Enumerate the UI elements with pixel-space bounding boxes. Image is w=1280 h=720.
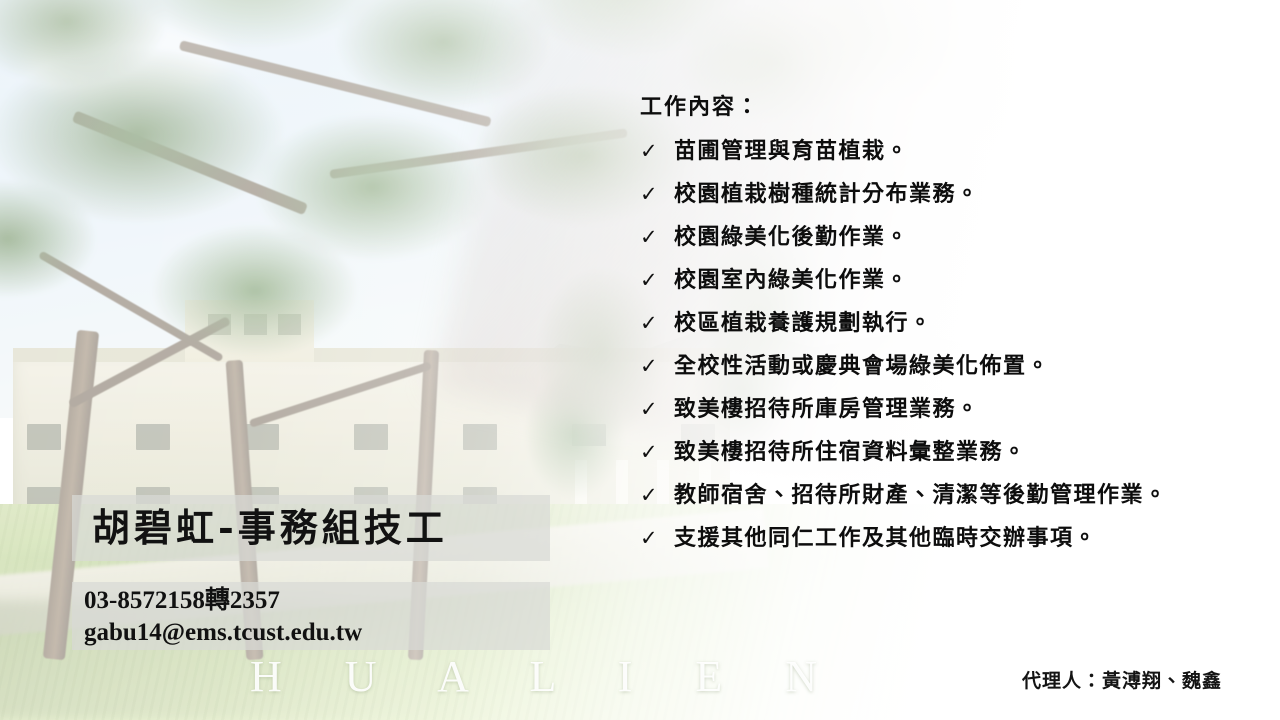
duty-item-label: 校區植栽養護規劃執行。 <box>674 308 933 338</box>
duty-item-label: 苗圃管理與育苗植栽。 <box>674 136 909 166</box>
check-icon: ✓ <box>636 308 674 338</box>
check-icon: ✓ <box>636 523 674 553</box>
check-icon: ✓ <box>636 480 674 510</box>
duty-item-label: 校園室內綠美化作業。 <box>674 265 909 295</box>
slide-canvas: H U A L I E N 胡碧虹-事務組技工 03-8572158轉2357 … <box>0 0 1280 720</box>
duty-item-label: 校園綠美化後勤作業。 <box>674 222 909 252</box>
duty-item-label: 校園植栽樹種統計分布業務。 <box>674 179 980 209</box>
duty-list-item: ✓苗圃管理與育苗植栽。 <box>636 136 1266 166</box>
check-icon: ✓ <box>636 437 674 467</box>
check-icon: ✓ <box>636 179 674 209</box>
duty-list-item: ✓致美樓招待所庫房管理業務。 <box>636 394 1266 424</box>
duty-item-label: 全校性活動或慶典會場綠美化佈置。 <box>674 351 1050 381</box>
duty-list-item: ✓教師宿舍、招待所財產、清潔等後勤管理作業。 <box>636 480 1266 510</box>
duty-list-item: ✓校園室內綠美化作業。 <box>636 265 1266 295</box>
phone-number: 03-8572158轉2357 <box>84 585 554 617</box>
check-icon: ✓ <box>636 136 674 166</box>
hualien-watermark: H U A L I E N <box>250 655 843 699</box>
duty-list-item: ✓校園植栽樹種統計分布業務。 <box>636 179 1266 209</box>
duty-list-item: ✓致美樓招待所住宿資料彙整業務。 <box>636 437 1266 467</box>
staff-name-title: 胡碧虹-事務組技工 <box>92 498 552 558</box>
check-icon: ✓ <box>636 351 674 381</box>
duty-item-label: 教師宿舍、招待所財產、清潔等後勤管理作業。 <box>674 480 1168 510</box>
check-icon: ✓ <box>636 222 674 252</box>
duties-panel: 工作內容： ✓苗圃管理與育苗植栽。✓校園植栽樹種統計分布業務。✓校園綠美化後勤作… <box>636 92 1266 566</box>
duty-list-item: ✓支援其他同仁工作及其他臨時交辦事項。 <box>636 523 1266 553</box>
duty-list-item: ✓全校性活動或慶典會場綠美化佈置。 <box>636 351 1266 381</box>
check-icon: ✓ <box>636 394 674 424</box>
duty-item-label: 支援其他同仁工作及其他臨時交辦事項。 <box>674 523 1097 553</box>
email-address[interactable]: gabu14@ems.tcust.edu.tw <box>84 617 554 649</box>
duty-list-item: ✓校區植栽養護規劃執行。 <box>636 308 1266 338</box>
check-icon: ✓ <box>636 265 674 295</box>
duty-item-label: 致美樓招待所庫房管理業務。 <box>674 394 980 424</box>
duty-list-item: ✓校園綠美化後勤作業。 <box>636 222 1266 252</box>
duties-heading: 工作內容： <box>640 92 1266 122</box>
deputy-line: 代理人：黃溥翔、魏鑫 <box>1022 666 1222 693</box>
duties-list: ✓苗圃管理與育苗植栽。✓校園植栽樹種統計分布業務。✓校園綠美化後勤作業。✓校園室… <box>636 136 1266 553</box>
duty-item-label: 致美樓招待所住宿資料彙整業務。 <box>674 437 1027 467</box>
contact-block: 03-8572158轉2357 gabu14@ems.tcust.edu.tw <box>84 585 554 649</box>
